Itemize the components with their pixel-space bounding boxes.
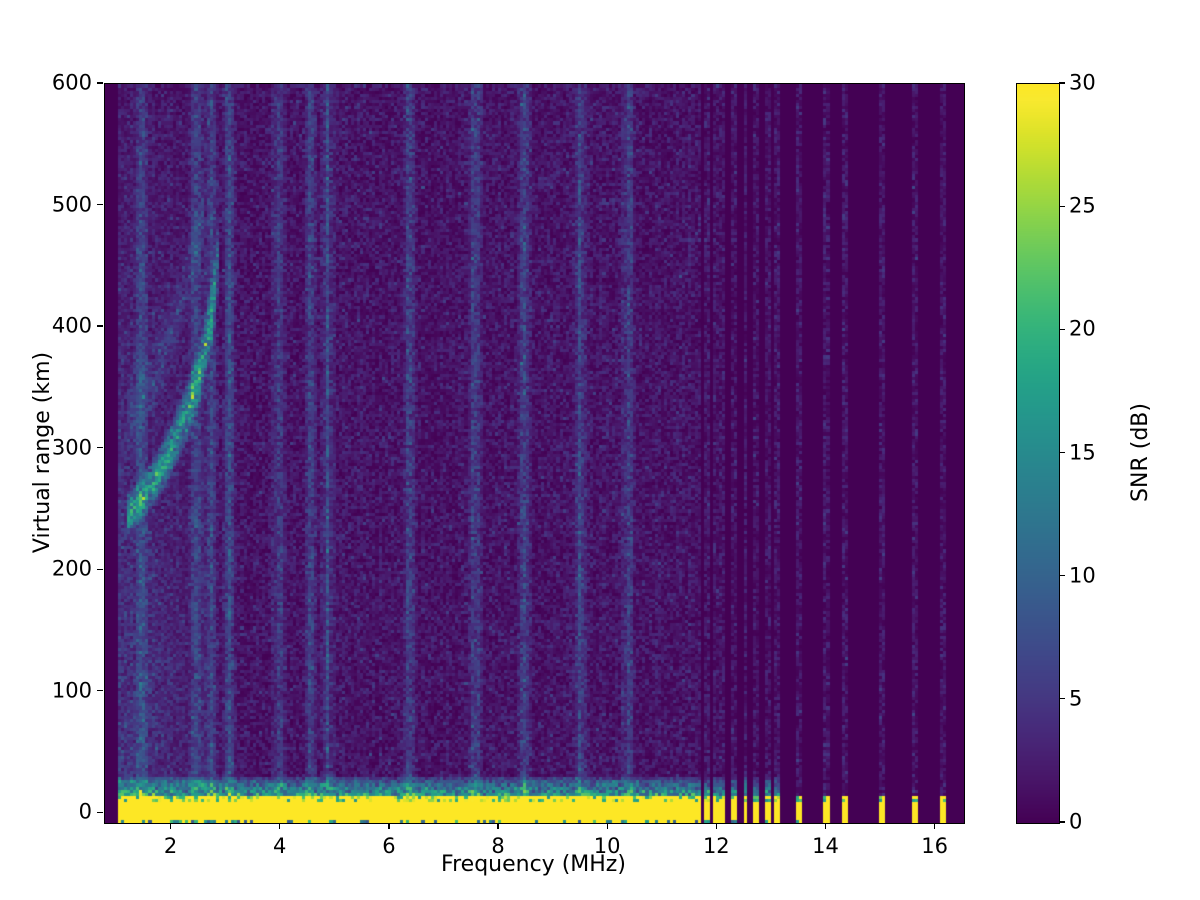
colorbar-tick-mark: [1059, 575, 1065, 576]
colorbar-label: SNR (dB): [1128, 83, 1153, 822]
y-tick-mark: [97, 325, 103, 326]
x-tick-mark: [388, 823, 389, 829]
x-tick-mark: [170, 823, 171, 829]
colorbar-tick-label: 5: [1069, 688, 1082, 709]
x-axis-label: Frequency (MHz): [104, 852, 963, 877]
colorbar-tick-label: 0: [1069, 812, 1082, 833]
y-tick-mark: [97, 690, 103, 691]
x-tick-mark: [607, 823, 608, 829]
y-tick-mark: [97, 447, 103, 448]
colorbar-tick-mark: [1059, 452, 1065, 453]
x-tick-mark: [279, 823, 280, 829]
y-tick-mark: [97, 82, 103, 83]
colorbar-tick-mark: [1059, 206, 1065, 207]
x-tick-mark: [934, 823, 935, 829]
colorbar-tick-label: 30: [1069, 73, 1096, 94]
ionogram-heatmap: [105, 84, 964, 823]
colorbar-tick-label: 10: [1069, 565, 1096, 586]
x-tick-mark: [716, 823, 717, 829]
y-tick-mark: [97, 569, 103, 570]
y-axis-label: Virtual range (km): [30, 83, 55, 822]
colorbar-tick-mark: [1059, 329, 1065, 330]
colorbar-tick-mark: [1059, 821, 1065, 822]
colorbar-tick-label: 15: [1069, 442, 1096, 463]
y-tick-mark: [97, 812, 103, 813]
colorbar-tick-mark: [1059, 698, 1065, 699]
ionogram-plot-axes: [104, 83, 965, 824]
ionogram-figure: IRF Uppsala SDR Ionosonde UP158 2026-03-…: [0, 0, 1200, 900]
colorbar-tick-label: 25: [1069, 196, 1096, 217]
x-tick-mark: [497, 823, 498, 829]
colorbar-tick-mark: [1059, 82, 1065, 83]
x-tick-mark: [825, 823, 826, 829]
colorbar-gradient: [1017, 84, 1059, 823]
y-tick-mark: [97, 204, 103, 205]
colorbar-tick-label: 20: [1069, 319, 1096, 340]
colorbar-axes: [1016, 83, 1060, 824]
